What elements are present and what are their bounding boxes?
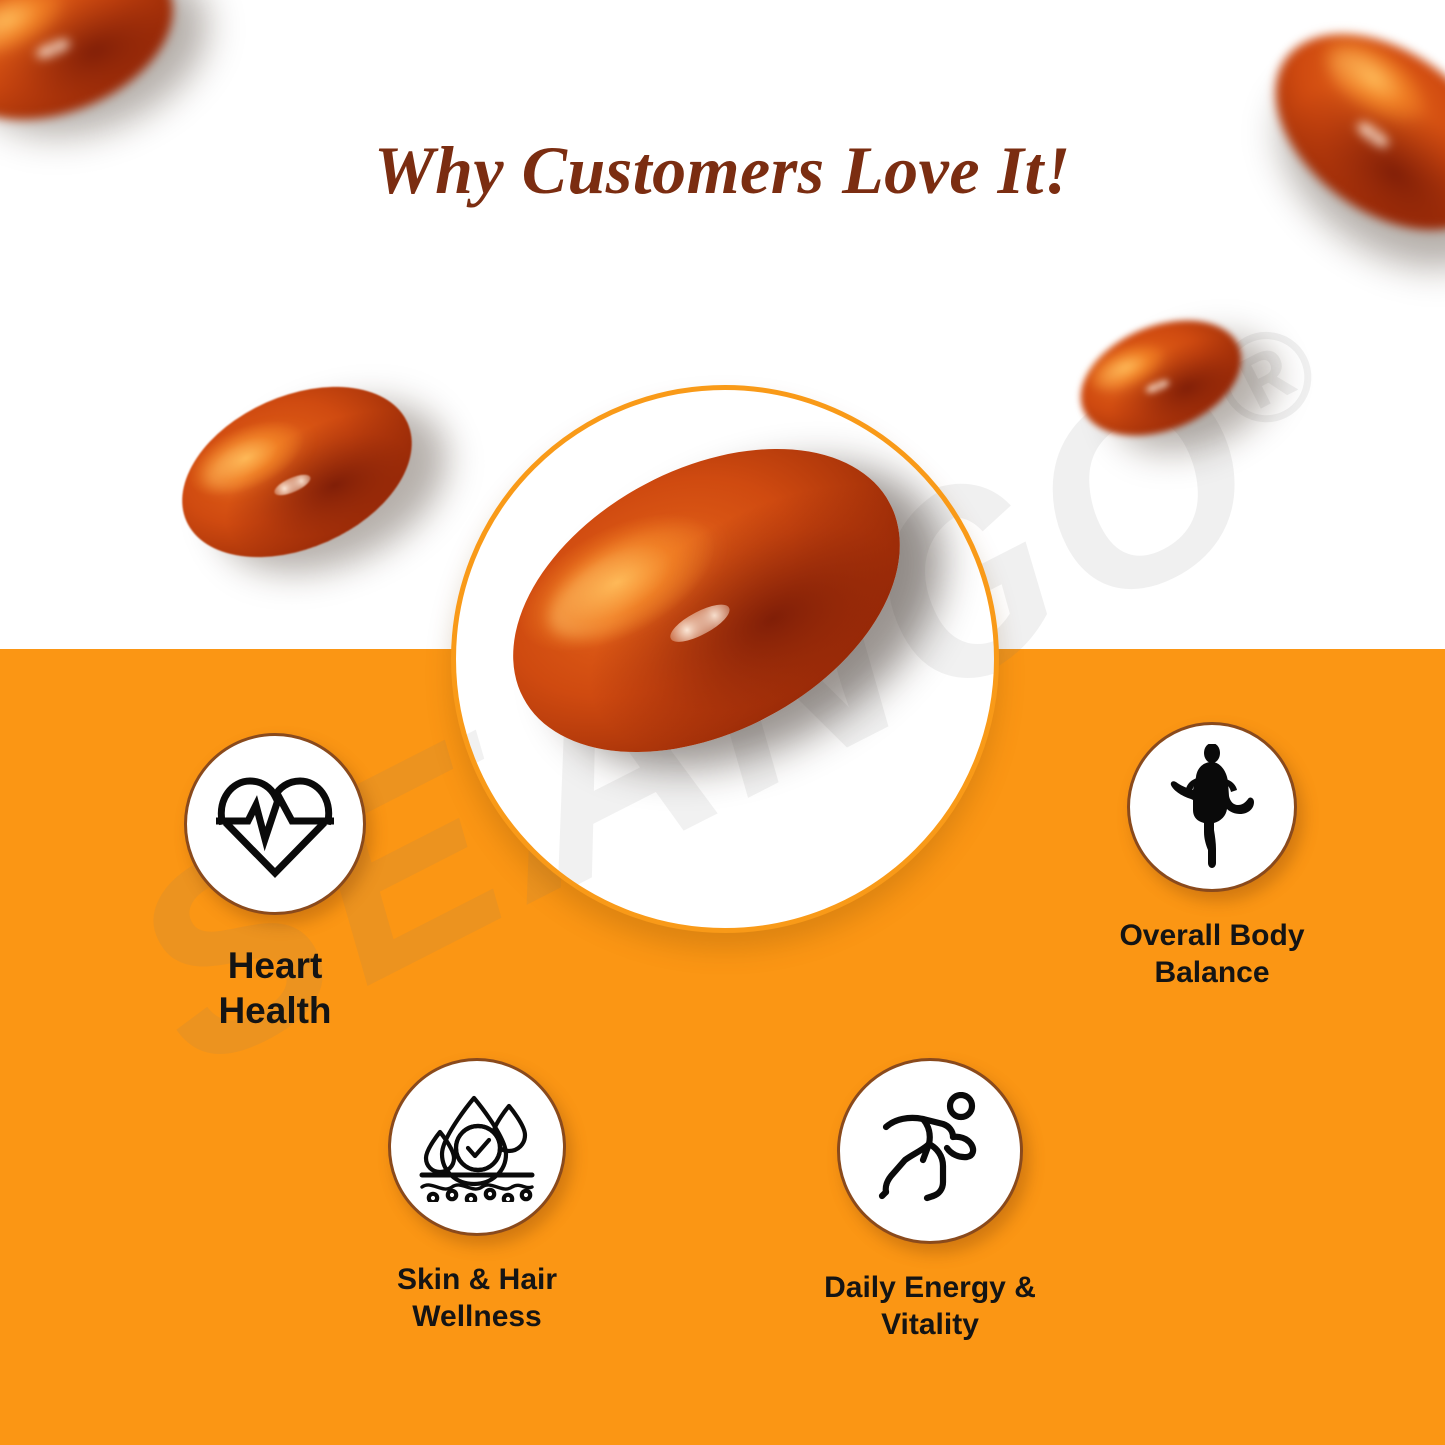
feature-daily-energy-vitality: Daily Energy & Vitality [740,1058,1120,1343]
hero-product-circle: SEANGO® [451,385,999,933]
feature-label-overall-body-balance: Overall Body Balance [1032,918,1392,991]
infographic-canvas: SEANGO® Why Customers Love It! SEANGO® H… [0,0,1445,1445]
water-drop-skin-icon [388,1058,566,1236]
page-title: Why Customers Love It! [0,131,1445,210]
feature-label-daily-energy-vitality: Daily Energy & Vitality [740,1270,1120,1343]
feature-heart-health: Heart Health [95,733,455,1033]
feature-skin-hair-wellness: Skin & Hair Wellness [287,1058,667,1335]
running-person-icon [837,1058,1023,1244]
feature-label-heart-health: Heart Health [95,943,455,1033]
heart-pulse-icon [184,733,366,915]
feature-label-skin-hair-wellness: Skin & Hair Wellness [287,1262,667,1335]
yoga-tree-pose-icon [1127,722,1297,892]
feature-overall-body-balance: Overall Body Balance [1032,722,1392,991]
